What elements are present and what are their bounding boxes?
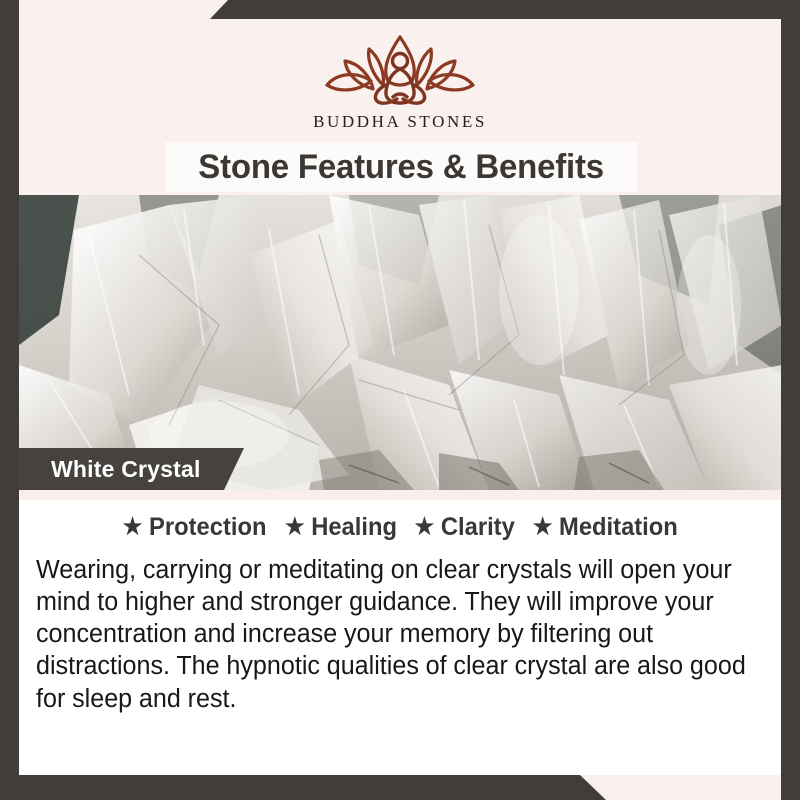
benefits-list: ★ Protection ★ Healing ★ Clarity ★ Medit… [19, 500, 782, 542]
star-icon: ★ [123, 515, 143, 538]
benefit-label: Meditation [560, 513, 679, 542]
title-banner: Stone Features & Benefits [165, 142, 637, 192]
crystal-photo-art [19, 195, 782, 490]
benefit-item-meditation: ★ Meditation [533, 513, 678, 542]
frame-accent-bottom-left [0, 775, 800, 800]
benefit-item-protection: ★ Protection [123, 513, 267, 542]
frame-accent-top-right [0, 0, 800, 19]
stone-name-label: White Crystal [19, 456, 201, 483]
white-crystal-cluster-photo [19, 195, 782, 490]
stone-info-poster: White Crystal ★ Protection ★ Healing ★ C… [0, 0, 800, 800]
stone-name-tag: White Crystal [19, 448, 244, 490]
frame-accent-left [0, 0, 19, 800]
photo-separator-strip [19, 490, 782, 500]
brand-name-label: BUDDHA STONES [313, 112, 487, 132]
page-title: Stone Features & Benefits [198, 148, 604, 187]
benefit-item-clarity: ★ Clarity [415, 513, 515, 542]
star-icon: ★ [285, 515, 305, 538]
star-icon: ★ [533, 515, 553, 538]
stone-description-panel: ★ Protection ★ Healing ★ Clarity ★ Medit… [19, 500, 782, 775]
benefit-label: Clarity [441, 513, 515, 542]
lotus-meditation-figure-icon [315, 33, 485, 111]
star-icon: ★ [415, 515, 435, 538]
stone-description-text: Wearing, carrying or meditating on clear… [36, 554, 754, 715]
poster-header: BUDDHA STONES [19, 19, 781, 142]
benefit-label: Healing [311, 513, 397, 542]
benefit-label: Protection [149, 513, 266, 542]
benefit-item-healing: ★ Healing [285, 513, 397, 542]
frame-accent-right [781, 0, 800, 800]
